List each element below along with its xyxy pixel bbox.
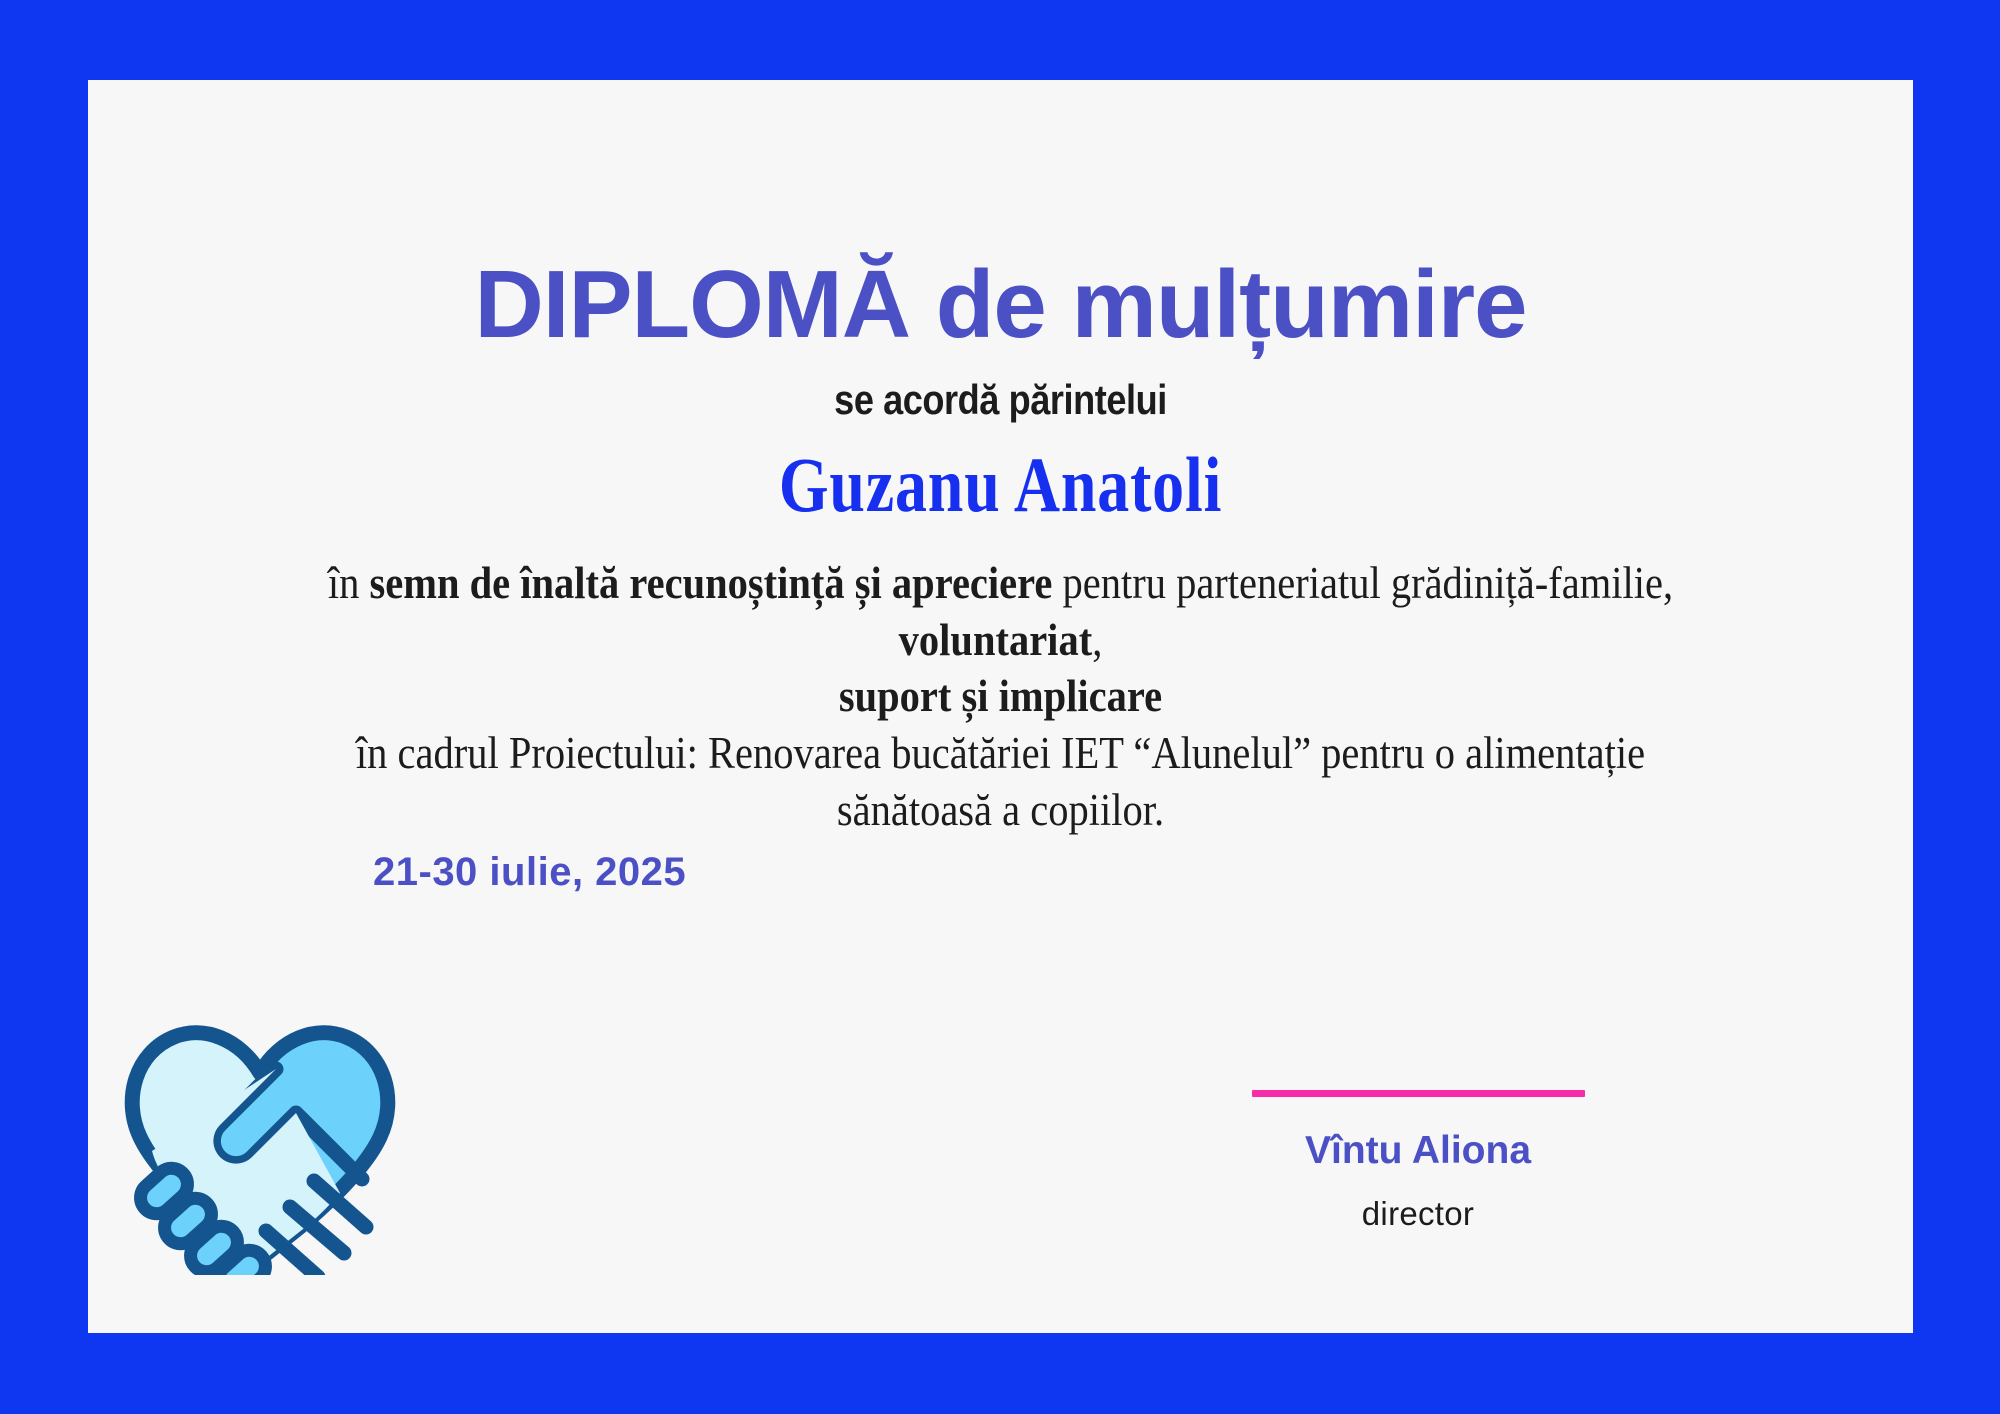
signature-rule	[1252, 1090, 1585, 1097]
body-line-5: sănătoasă a copiilor.	[224, 782, 1777, 839]
body-line-4: în cadrul Proiectului: Renovarea bucătăr…	[224, 725, 1777, 782]
handshake-heart-icon	[100, 1005, 420, 1275]
signature-role: director	[1198, 1195, 1638, 1233]
certificate-title: DIPLOMĂ de mulțumire	[88, 255, 1913, 356]
signature-name: Vîntu Aliona	[1198, 1129, 1638, 1173]
body-line-2-bold: voluntariat	[899, 615, 1093, 665]
certificate-page: DIPLOMĂ de mulțumire se acordă părintelu…	[0, 0, 2000, 1414]
signature-block: Vîntu Aliona director	[1198, 1090, 1638, 1233]
certificate-inner-panel: DIPLOMĂ de mulțumire se acordă părintelu…	[88, 80, 1913, 1333]
body-line-1: în semn de înaltă recunoștință și apreci…	[224, 555, 1777, 612]
body-line-1-pre: în	[328, 558, 370, 608]
certificate-subtitle: se acordă părintelui	[216, 376, 1786, 424]
body-line-3-bold: suport și implicare	[839, 671, 1162, 721]
body-line-2: voluntariat,	[224, 612, 1777, 669]
recipient-name: Guzanu Anatoli	[252, 440, 1749, 530]
certificate-body: în semn de înaltă recunoștință și apreci…	[224, 555, 1777, 838]
body-line-2-post: ,	[1092, 615, 1102, 665]
body-line-1-post: pentru parteneriatul grădiniță-familie,	[1052, 558, 1673, 608]
body-line-1-bold: semn de înaltă recunoștință și apreciere	[370, 558, 1053, 608]
body-line-3: suport și implicare	[224, 668, 1777, 725]
certificate-date: 21-30 iulie, 2025	[373, 850, 686, 895]
